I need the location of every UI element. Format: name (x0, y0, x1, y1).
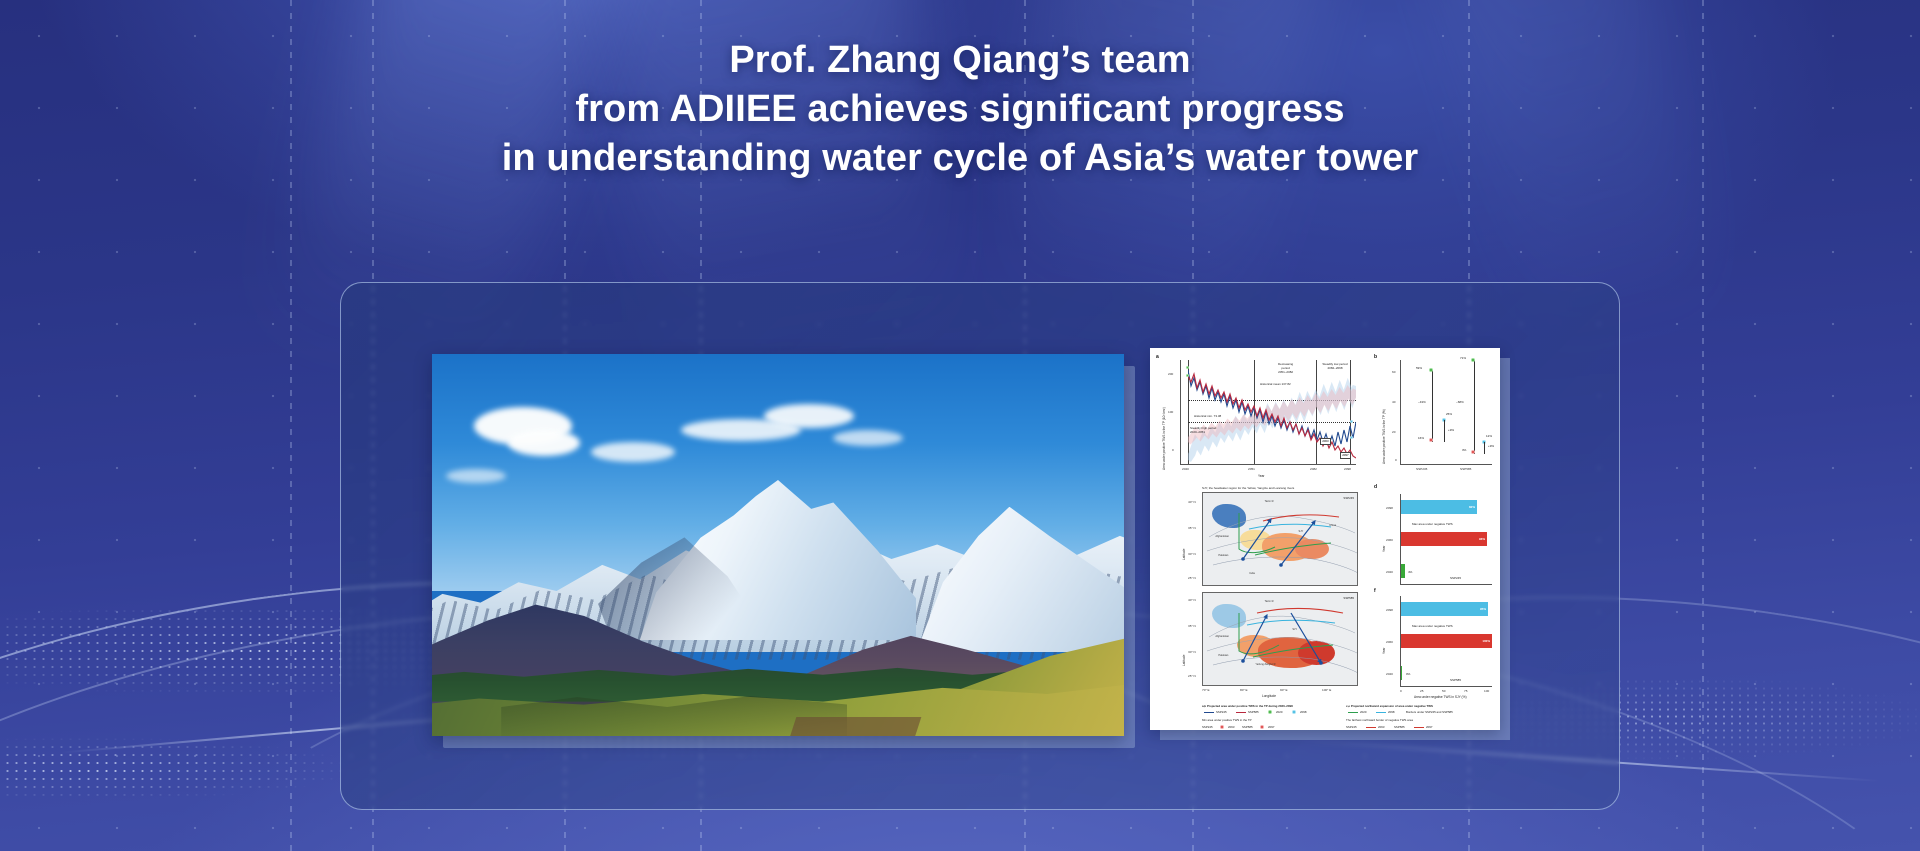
panel-b-label-3: 3% (1462, 448, 1466, 452)
legend-ce-sub-ssp585: SSP585 (1394, 725, 1405, 729)
panel-c-scenario: SSP245 (1343, 496, 1354, 500)
panel-d-bar-2060: 93% (1401, 532, 1487, 546)
legend-ce-title: c,e Projected northward expansion of are… (1346, 704, 1433, 708)
panel-a-timeseries (1188, 360, 1356, 464)
panel-b-label-delta68: −68% (1456, 400, 1464, 404)
map-label-afghanistan: Afghanistan (1215, 535, 1229, 538)
panel-b-ytick: 20 (1392, 430, 1395, 434)
panel-d-bar-2098: 82% (1401, 500, 1477, 514)
legend-ab-sub-title: Min area under positive TWS in the TP (1202, 718, 1252, 722)
legend-line-2063 (1366, 727, 1376, 728)
panel-e-ytick: 40° N (1188, 598, 1196, 602)
map-label-yarlung: Yarlung Zangbo R. (1255, 663, 1276, 666)
panel-b-ytick: 40 (1392, 400, 1395, 404)
panel-b-ylabel: Area under positive TWS in the TP (%) (1382, 409, 1386, 464)
panel-a-note-historical-min: Historical min. 73.38 (1194, 414, 1221, 418)
panel-b-ssp245-connector2 (1444, 420, 1445, 442)
panel-f-xtick: 25 (1420, 689, 1423, 693)
panel-d-bar-2060-value: 93% (1479, 537, 1485, 541)
panel-f-bar-2098-value: 95% (1480, 607, 1486, 611)
panel-c-ytick: 30° N (1188, 552, 1196, 556)
legend-dot-2020 (1268, 710, 1272, 714)
panel-f-ytick: 2060 (1386, 640, 1393, 644)
panel-f-xtick: 50 (1442, 689, 1445, 693)
map-label-afghanistan: Afghanistan (1215, 635, 1229, 638)
panel-b-label-71: 71% (1460, 356, 1466, 360)
field-patch (787, 717, 920, 736)
panel-b-label-delta43: −43% (1418, 400, 1426, 404)
panel-a-ytick: 100 (1168, 410, 1173, 414)
panel-a-xtick: 2082 (1310, 467, 1317, 471)
panel-e-xlabel: Longitude (1262, 694, 1276, 698)
map-label-india: India (1249, 572, 1255, 575)
panel-f-xtick: 100 (1484, 689, 1489, 693)
panel-f-x-axis (1400, 686, 1492, 687)
panel-a-letter: a (1156, 354, 1159, 360)
legend-dot-2063 (1220, 725, 1224, 729)
banner-title: Prof. Zhang Qiang’s team from ADIIEE ach… (0, 36, 1920, 183)
map-overlay-lines (1203, 593, 1358, 686)
panel-e-xtick: 90° E (1280, 688, 1288, 692)
panel-b-ytick: 60 (1392, 370, 1395, 374)
panel-b-ssp245-connector (1432, 370, 1433, 442)
panel-c-ytick: 40° N (1188, 500, 1196, 504)
cloud (764, 404, 854, 428)
map-label-pakistan: Pakistan (1218, 554, 1228, 557)
panel-f-bar-2020-value: 0% (1406, 672, 1410, 676)
panel-f-bar-note: Max area under negative TWS (1412, 624, 1453, 628)
legend-line-2098-border (1376, 712, 1386, 713)
map-overlay-lines (1203, 493, 1358, 586)
legend-ce-sub-2097: 2097 (1426, 725, 1432, 729)
title-line-2: from ADIIEE achieves significant progres… (0, 85, 1920, 134)
panel-a-ylabel: Area under positive TWS in the TP (10³ k… (1162, 407, 1166, 470)
panel-a-ytick: 200 (1168, 372, 1173, 376)
scientific-figure: a Area under positive TWS in the TP (10³… (1150, 348, 1500, 730)
panel-d-ytick: 2098 (1386, 506, 1393, 510)
cloud (591, 442, 675, 462)
mountain-photo (432, 354, 1124, 736)
panel-b-label-16: 16% (1418, 436, 1424, 440)
panel-f-scenario: SSP585 (1450, 678, 1461, 682)
panel-b-ssp585-connector2 (1484, 442, 1485, 454)
panel-a-x-axis (1180, 464, 1356, 465)
panel-a-callout-2097: 2097 (1340, 452, 1351, 459)
map-label-china: China (1329, 524, 1336, 527)
legend-ab-sub-2097: 2097 (1268, 725, 1274, 729)
legend-ce-sub-title: The farthest northward border of negativ… (1346, 718, 1413, 722)
panel-d-bar-2098-value: 82% (1469, 505, 1475, 509)
panel-e-ylabel: Latitude (1182, 655, 1186, 666)
map-label-tarim: Tarim R. (1265, 500, 1275, 503)
legend-dot-2097 (1260, 725, 1264, 729)
panel-b-xtick: SSP585 (1460, 467, 1471, 471)
panel-d-ylabel: Year (1382, 546, 1386, 552)
panel-d-ytick: 2020 (1386, 570, 1393, 574)
legend-line-2097 (1414, 727, 1424, 728)
panel-a-ytick: 0 (1172, 448, 1174, 452)
cloud (446, 469, 506, 483)
panel-b-ssp585-min-point (1471, 450, 1475, 454)
panel-e-xtick: 80° E (1240, 688, 1248, 692)
map-label-sjy: SJY (1292, 628, 1297, 631)
panel-a-callout-2063: 2063 (1320, 438, 1331, 445)
legend-ab-item-2098: 2098 (1300, 710, 1306, 714)
panel-f-bar-2098: 95% (1401, 602, 1488, 616)
legend-ab-title: a,b Projected area under positive TWS in… (1202, 704, 1293, 708)
panel-b-letter: b (1374, 354, 1377, 360)
panel-b-xtick: SSP245 (1416, 467, 1427, 471)
panel-e-scenario: SSP585 (1343, 596, 1354, 600)
legend-ab-item-ssp585: SSP585 (1248, 710, 1259, 714)
panel-f-letter: f (1374, 588, 1376, 594)
panel-f-ytick: 2098 (1386, 608, 1393, 612)
panel-f-xtick: 75 (1464, 689, 1467, 693)
panel-b-ssp245-2020-point (1429, 368, 1433, 372)
panel-b-ssp585-2020-point (1471, 358, 1475, 362)
panel-e-map: SSP585 Tarim R. Afghanistan Pakistan SJY… (1202, 592, 1358, 686)
panel-b-label-59: 59% (1416, 366, 1422, 370)
panel-b-ytick: 0 (1395, 458, 1397, 462)
legend-ab-sub-2063: 2063 (1228, 725, 1234, 729)
legend-ce-sub-ssp245: SSP245 (1346, 725, 1357, 729)
legend-ab-item-ssp245: SSP245 (1216, 710, 1227, 714)
panel-b-ssp585-connector (1474, 360, 1475, 454)
panel-f-xlabel: Area under negative TWS in SJY (%) (1414, 695, 1467, 699)
panel-b-label-plus9b: +9% (1488, 444, 1494, 448)
panel-c-map: SSP245 Tarim R. Afghanistan Pakistan Ind… (1202, 492, 1358, 586)
legend-ab-sub-ssp245: SSP245 (1202, 725, 1213, 729)
legend-ce-item-borders: Borders under SSP245 and SSP585 (1406, 710, 1453, 714)
panel-d-bar-2020 (1401, 564, 1405, 578)
panel-e-ytick: 35° N (1188, 624, 1196, 628)
panel-a-xtick: 2020 (1182, 467, 1189, 471)
legend-colorbar-axis (1400, 688, 1492, 689)
legend-ab-sub-ssp585: SSP585 (1242, 725, 1253, 729)
panel-c-ytick: 35° N (1188, 526, 1196, 530)
legend-ce-item-2020: 2020 (1360, 710, 1366, 714)
panel-d-bar-2020-value: 4% (1408, 570, 1412, 574)
panel-e-ytick: 30° N (1188, 650, 1196, 654)
panel-f-bar-2060-value: 100% (1482, 639, 1490, 643)
panel-e-xtick: 100° E (1322, 688, 1331, 692)
panel-a-note-historical-mean: Historical mean 137.82 (1260, 382, 1291, 386)
map-label-pakistan: Pakistan (1218, 654, 1228, 657)
panel-e-ytick: 25° N (1188, 674, 1196, 678)
panel-b-y-axis (1400, 360, 1401, 464)
map-label-sjy: SJY (1298, 530, 1303, 533)
panel-a-note-steadily-low: Steadily low period 2082–2098 (1316, 362, 1354, 370)
panel-a-xtick: 2098 (1344, 467, 1351, 471)
panel-e-xtick: 70° E (1202, 688, 1210, 692)
panel-f-bar-2060: 100% (1401, 634, 1492, 648)
legend-ab-item-2020: 2020 (1276, 710, 1282, 714)
panel-f-ylabel: Year (1382, 648, 1386, 654)
panel-f-xtick: 0 (1400, 689, 1402, 693)
panel-b-label-25: 25% (1446, 412, 1452, 416)
legend-line-2020-border (1348, 712, 1358, 713)
panel-a-xlabel: Year (1258, 474, 1264, 478)
panel-c-title: SJY, the headwater region for the Yellow… (1202, 486, 1294, 490)
panel-b-ssp245-min-point (1429, 438, 1433, 442)
panel-f-ytick: 2020 (1386, 672, 1393, 676)
title-line-1: Prof. Zhang Qiang’s team (0, 36, 1920, 85)
panel-b-label-plus9: +9% (1448, 428, 1454, 432)
panel-a-note-steadily-high: Steadily high period 2020–2051 (1190, 426, 1250, 434)
legend-line-ssp585 (1236, 712, 1246, 713)
panel-c-ytick: 25° N (1188, 576, 1196, 580)
panel-d-letter: d (1374, 484, 1377, 490)
title-line-3: in understanding water cycle of Asia’s w… (0, 134, 1920, 183)
panel-b-x-axis (1400, 464, 1492, 465)
panel-d-bar-note: Max area under negative TWS (1412, 522, 1453, 526)
legend-ce-item-2098: 2098 (1388, 710, 1394, 714)
panel-c-ylabel: Latitude (1182, 549, 1186, 560)
panel-a-xtick: 2051 (1248, 467, 1255, 471)
panel-d-scenario: SSP245 (1450, 576, 1461, 580)
legend-line-ssp245 (1204, 712, 1214, 713)
panel-d-ytick: 2060 (1386, 538, 1393, 542)
legend-ce-sub-2063: 2063 (1378, 725, 1384, 729)
panel-d-x-axis (1400, 584, 1492, 585)
panel-b-label-12: 12% (1486, 434, 1492, 438)
panel-f-bar-2020 (1401, 666, 1402, 680)
legend-dot-2098 (1292, 710, 1296, 714)
map-label-tarim: Tarim R. (1265, 600, 1275, 603)
panel-a-y-axis (1180, 360, 1181, 464)
